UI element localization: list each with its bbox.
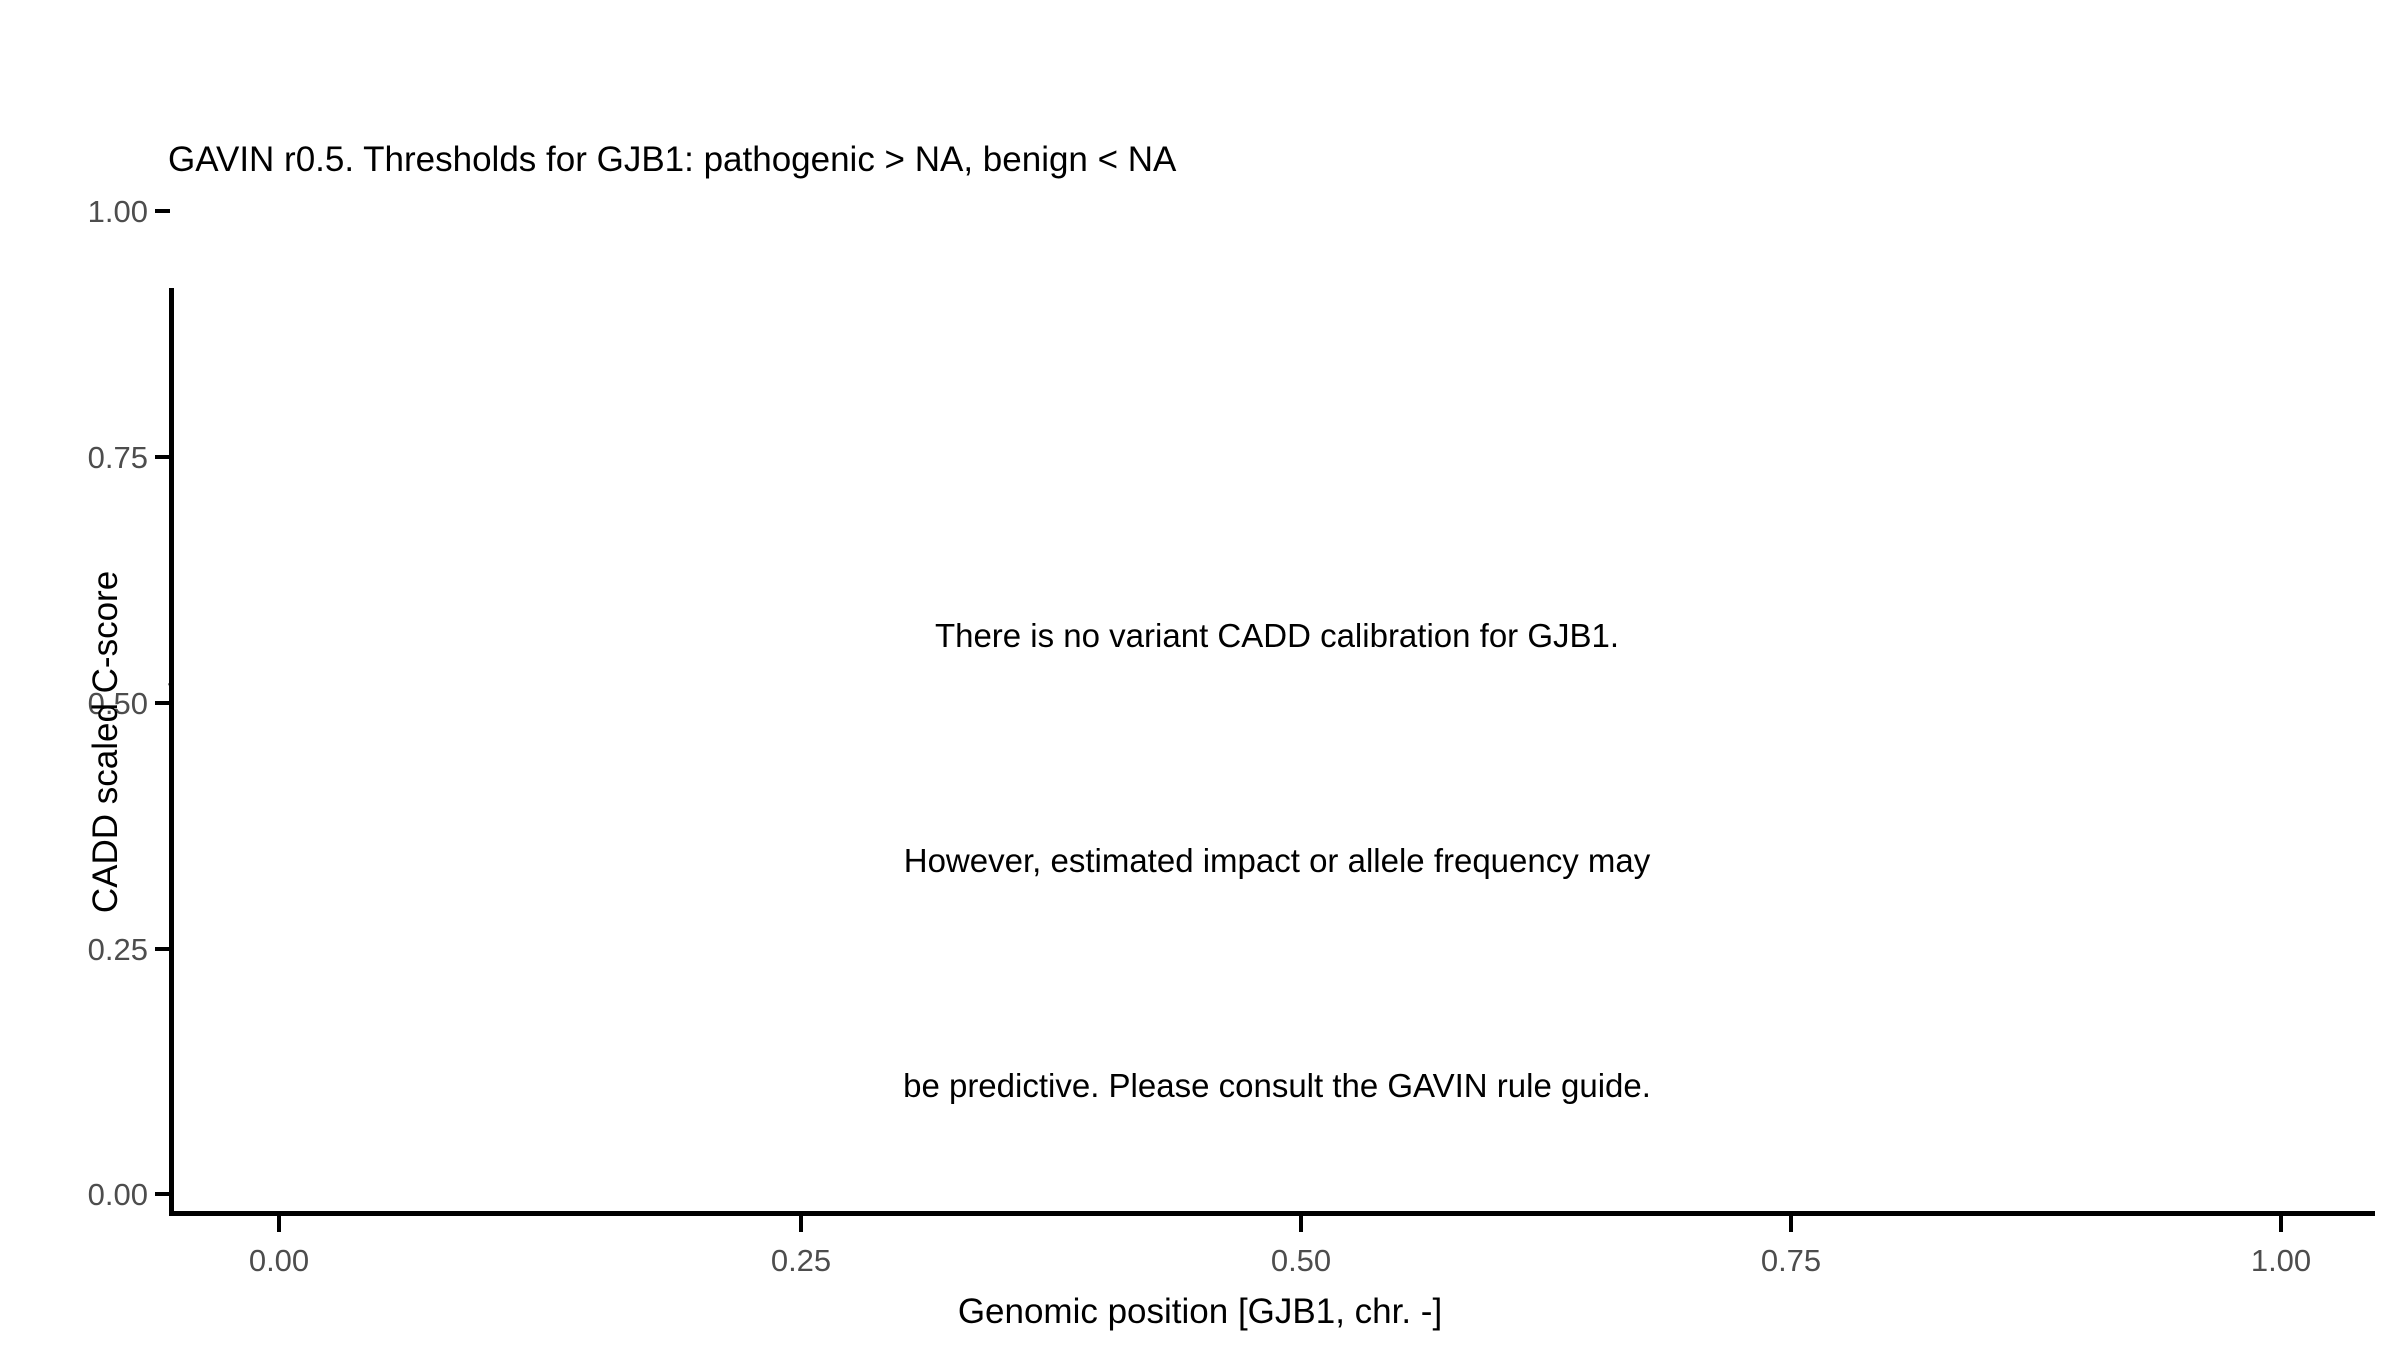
chart-figure: GAVIN r0.5. Thresholds for GJB1: pathoge… — [0, 0, 2400, 1350]
x-axis-tick-label-0.00: 0.00 — [199, 1243, 359, 1279]
y-axis-tick-1.00 — [155, 209, 170, 213]
chart-title-line-1: GAVIN r0.5. Thresholds for GJB1: pathoge… — [168, 130, 2268, 189]
x-axis-title: Genomic position [GJB1, chr. -] — [0, 1292, 2400, 1332]
annotation-line-2: However, estimated impact or allele freq… — [717, 823, 1837, 898]
y-axis-line — [169, 288, 174, 1216]
x-axis-tick-0.00 — [277, 1216, 281, 1232]
x-axis-tick-label-1.00: 1.00 — [2201, 1243, 2361, 1279]
x-axis-tick-1.00 — [2279, 1216, 2283, 1232]
annotation-line-3: be predictive. Please consult the GAVIN … — [717, 1048, 1837, 1123]
y-axis-tick-0.75 — [155, 455, 170, 459]
y-axis-tick-0.50 — [155, 701, 170, 705]
no-calibration-annotation: There is no variant CADD calibration for… — [717, 448, 1837, 1273]
y-axis-tick-0.25 — [155, 947, 170, 951]
annotation-line-1: There is no variant CADD calibration for… — [717, 598, 1837, 673]
y-axis-tick-0.00 — [155, 1192, 170, 1196]
y-axis-title: CADD scaled C-score — [86, 277, 126, 1207]
y-axis-tick-label-1.00: 1.00 — [38, 194, 148, 230]
